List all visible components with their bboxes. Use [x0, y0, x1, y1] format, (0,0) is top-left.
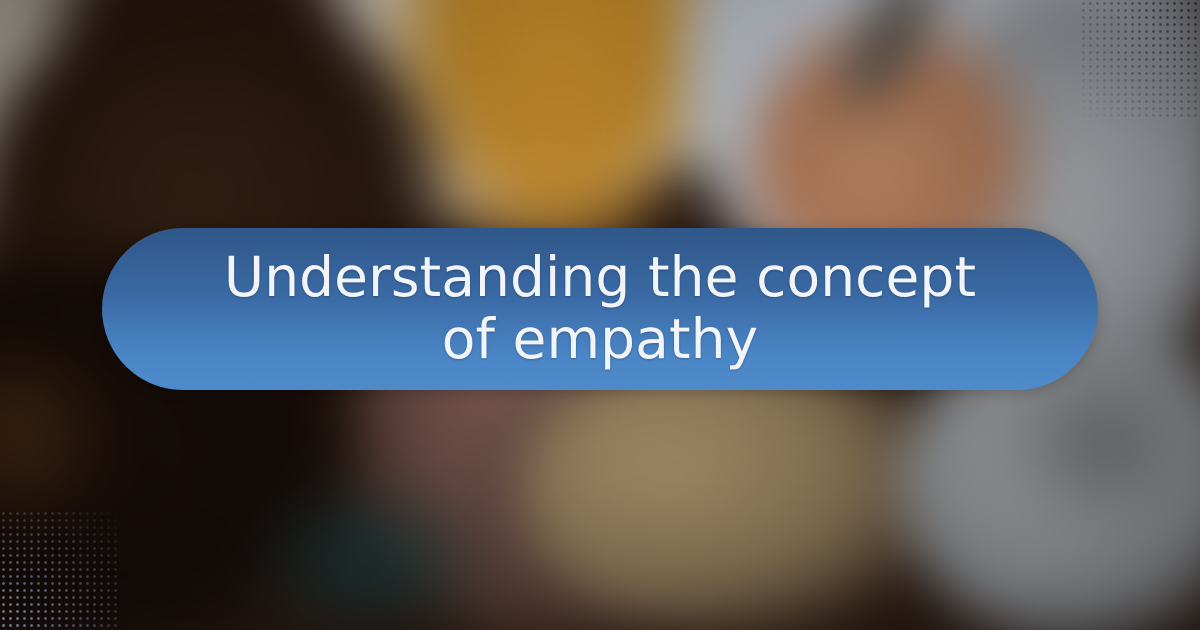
- title-line-1: Understanding the concept: [224, 245, 976, 309]
- title-line-2: of empathy: [442, 307, 759, 371]
- social-card: Understanding the concept of empathy: [0, 0, 1200, 630]
- page-title: Understanding the concept of empathy: [164, 247, 1036, 370]
- title-pill: Understanding the concept of empathy: [102, 228, 1098, 390]
- bg-teal-bottom: [250, 480, 490, 630]
